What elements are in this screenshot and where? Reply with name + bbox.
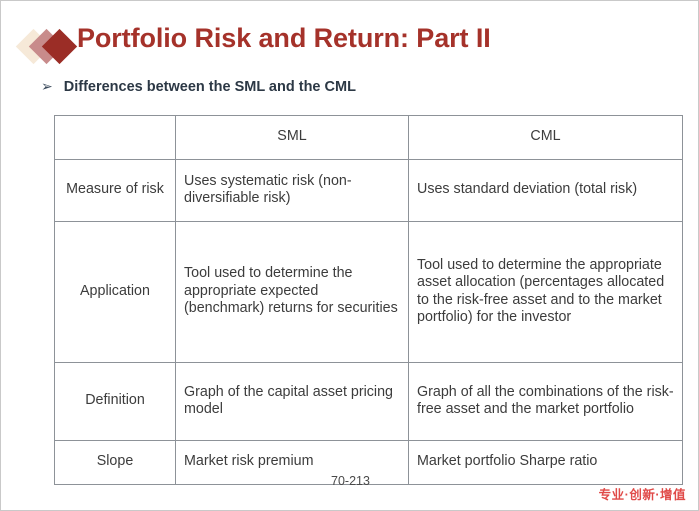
page-number: 70-213 bbox=[1, 474, 699, 488]
header-cell-blank bbox=[55, 116, 176, 160]
cell-sml-application: Tool used to determine the appropriate e… bbox=[176, 222, 409, 363]
cell-cml-measure-of-risk: Uses standard deviation (total risk) bbox=[409, 160, 683, 222]
cell-sml-measure-of-risk: Uses systematic risk (non-diversifiable … bbox=[176, 160, 409, 222]
row-label-application: Application bbox=[55, 222, 176, 363]
header-cell-cml: CML bbox=[409, 116, 683, 160]
header-cell-sml: SML bbox=[176, 116, 409, 160]
row-label-measure-of-risk: Measure of risk bbox=[55, 160, 176, 222]
bullet-label: Differences between the SML and the CML bbox=[64, 79, 356, 95]
cell-sml-definition: Graph of the capital asset pricing model bbox=[176, 363, 409, 441]
arrow-bullet-icon: ➢ bbox=[41, 79, 53, 93]
brand-slogan: 专业·创新·增值 bbox=[599, 484, 686, 503]
table-row: Measure of risk Uses systematic risk (no… bbox=[55, 160, 683, 222]
row-label-definition: Definition bbox=[55, 363, 176, 441]
table-header-row: SML CML bbox=[55, 116, 683, 160]
sml-cml-comparison-table: SML CML Measure of risk Uses systematic … bbox=[54, 115, 683, 485]
page-title: Portfolio Risk and Return: Part II bbox=[77, 23, 491, 54]
cell-cml-definition: Graph of all the combinations of the ris… bbox=[409, 363, 683, 441]
cell-cml-application: Tool used to determine the appropriate a… bbox=[409, 222, 683, 363]
table-row: Definition Graph of the capital asset pr… bbox=[55, 363, 683, 441]
title-area: Portfolio Risk and Return: Part II bbox=[1, 23, 698, 69]
bullet-line: ➢ Differences between the SML and the CM… bbox=[41, 79, 356, 95]
diamond-decoration-icon bbox=[21, 29, 77, 65]
slide-canvas: Portfolio Risk and Return: Part II ➢ Dif… bbox=[0, 0, 699, 511]
table-row: Application Tool used to determine the a… bbox=[55, 222, 683, 363]
